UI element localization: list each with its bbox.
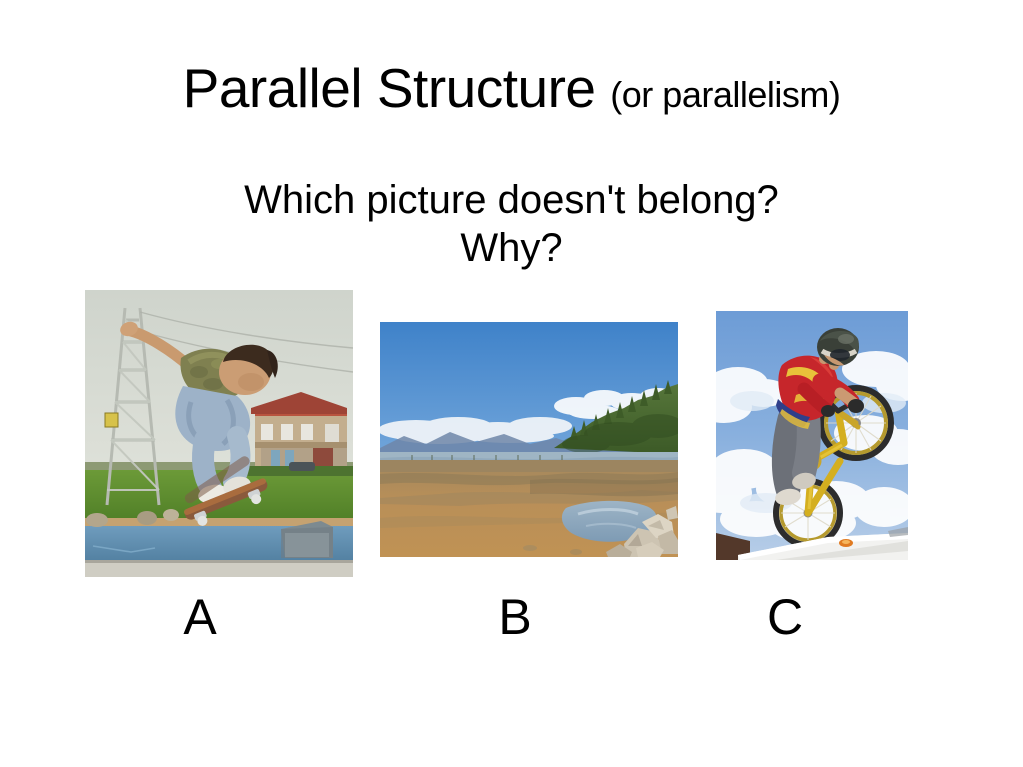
caption-b: B [455, 592, 575, 642]
picture-c-image [716, 311, 908, 560]
slide: Parallel Structure (or parallelism) Whic… [0, 0, 1023, 767]
picture-b-image [380, 322, 678, 557]
picture-a-skateboarder[interactable] [85, 290, 353, 577]
picture-row [0, 0, 1023, 767]
picture-a-image [85, 290, 353, 577]
caption-c: C [725, 592, 845, 642]
pylon-sign [105, 413, 118, 427]
picture-b-beach[interactable] [380, 322, 678, 557]
picture-c-bmx-rider[interactable] [716, 311, 908, 560]
caption-a: A [140, 592, 260, 642]
building [251, 392, 347, 472]
